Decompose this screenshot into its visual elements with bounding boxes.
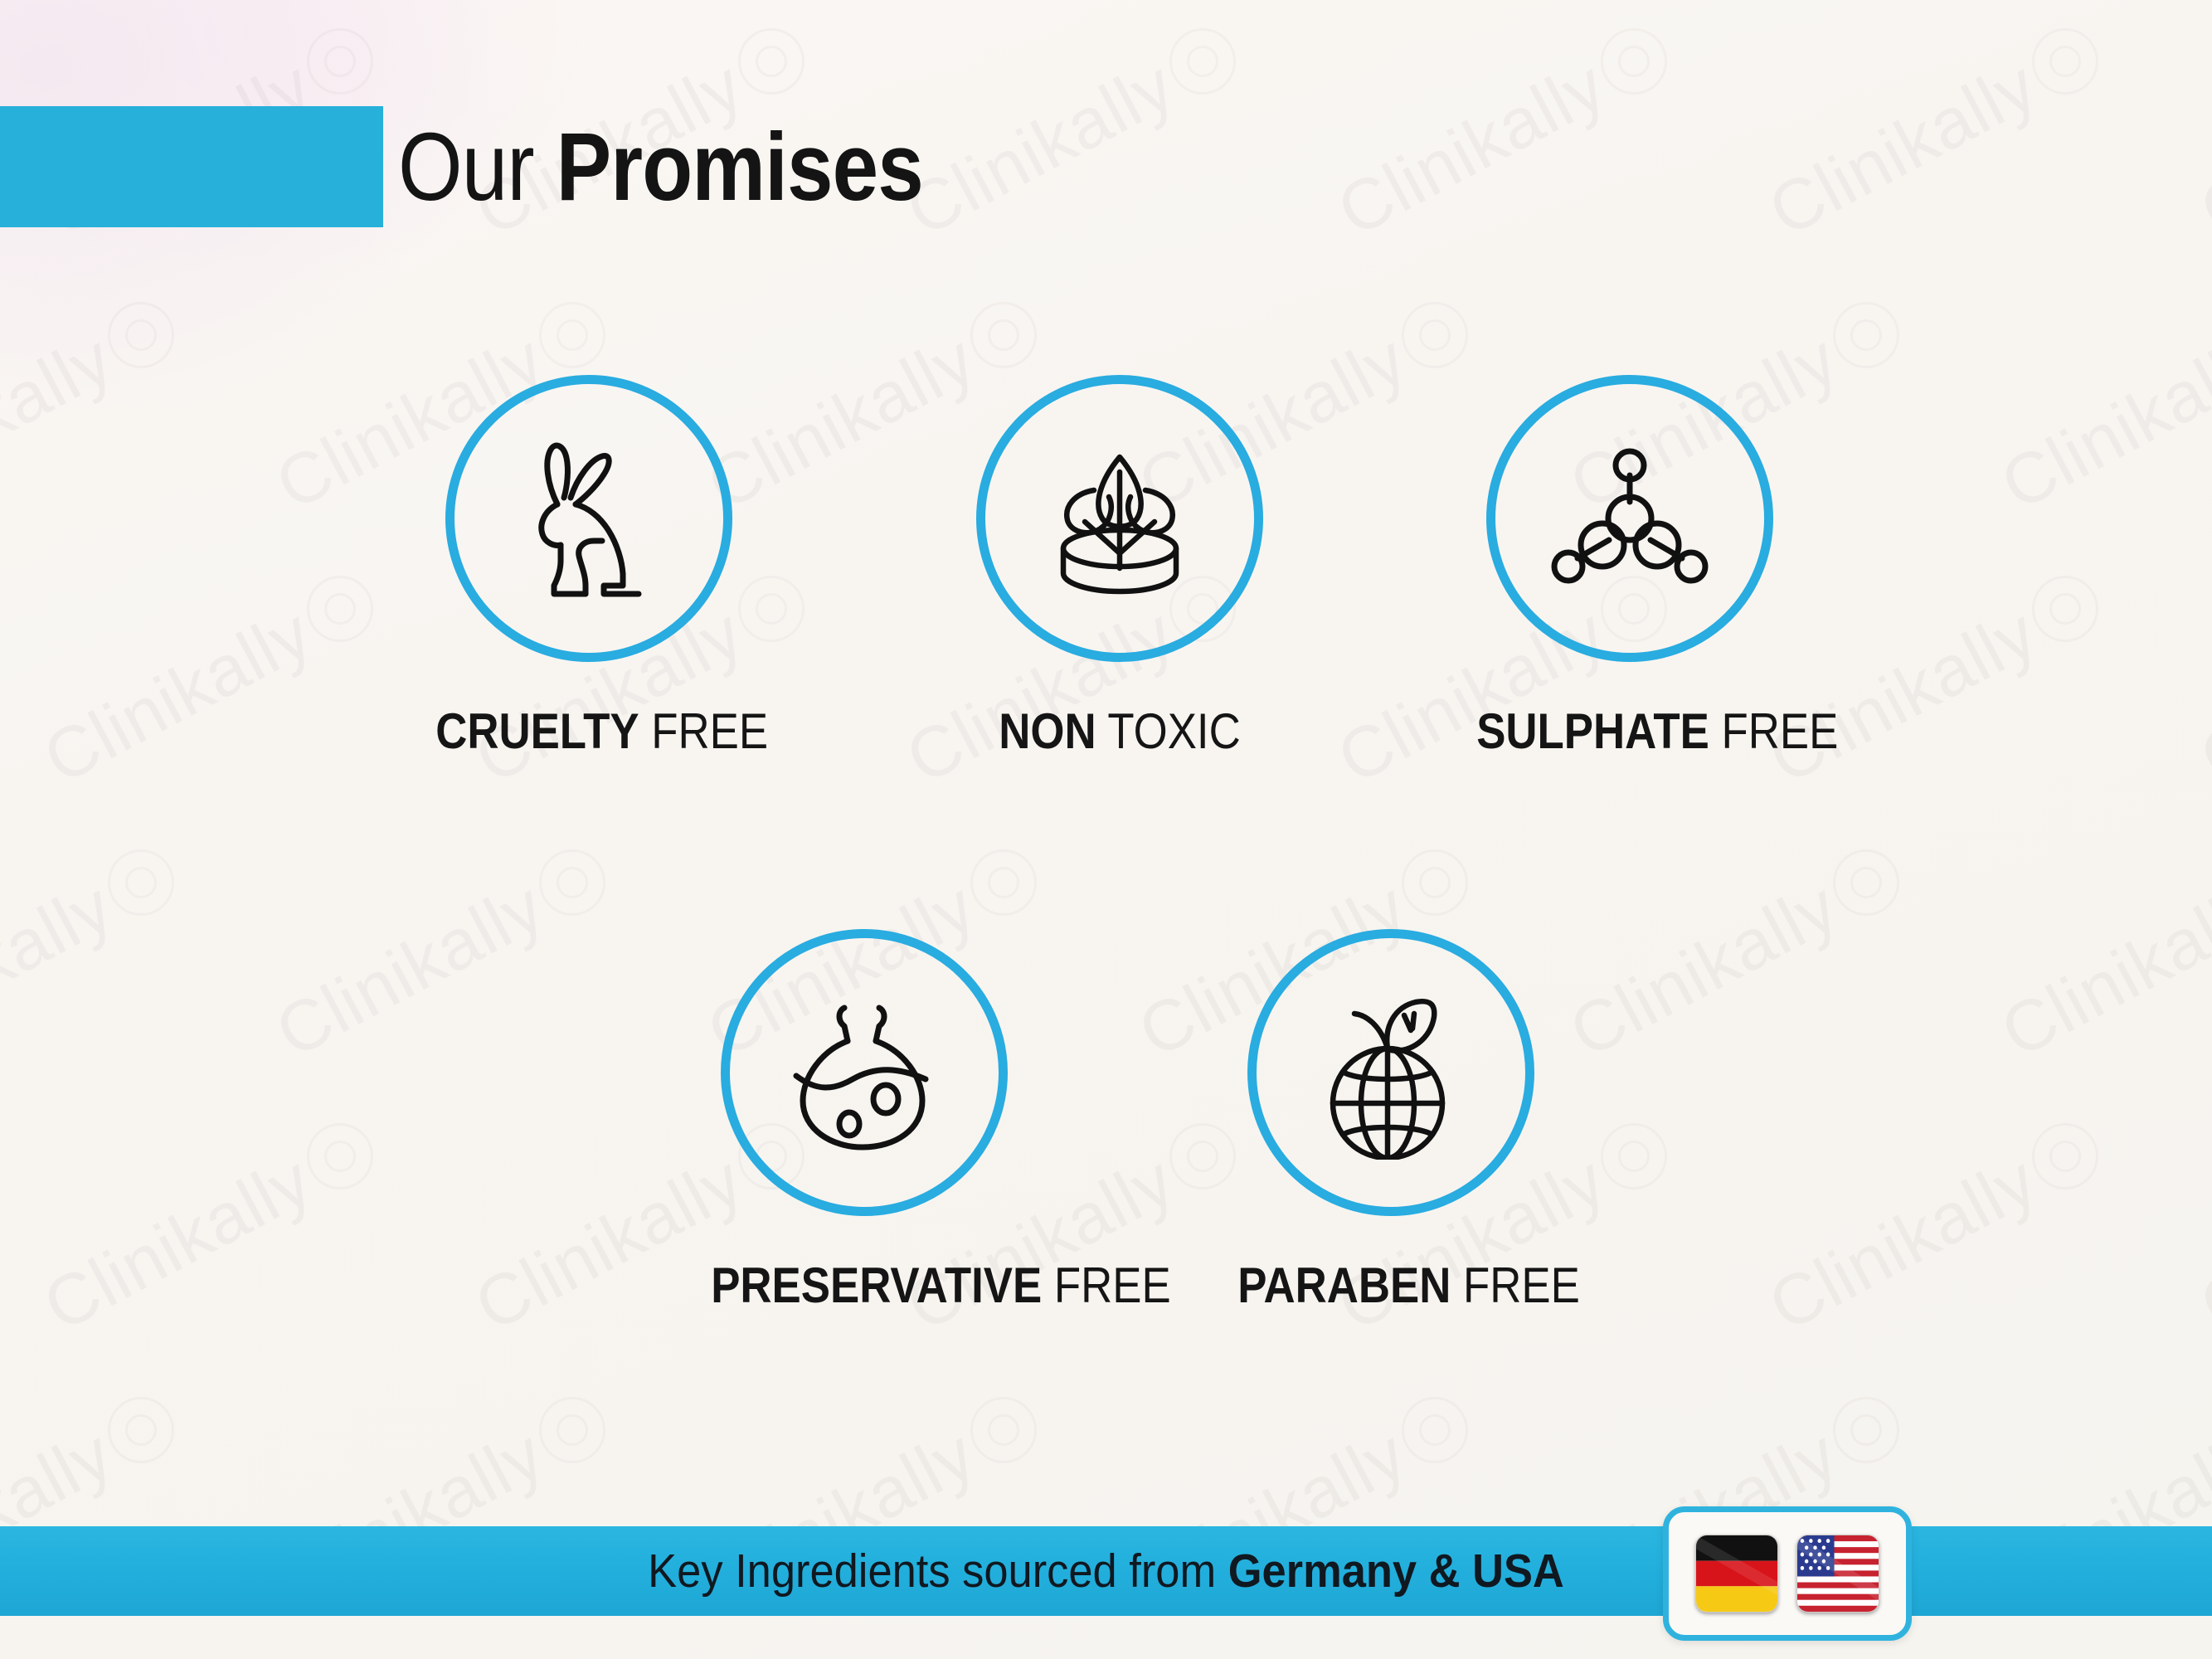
promise-label-regular: FREE — [1451, 1258, 1579, 1313]
promise-label-regular: FREE — [639, 703, 768, 759]
flags-badge-box — [1663, 1506, 1912, 1641]
promise-item-paraben-free[interactable]: PARABEN FREE — [1217, 929, 1565, 1312]
background-wash — [0, 0, 2212, 1659]
promise-label-bold: PARABEN — [1237, 1258, 1451, 1313]
promise-label-regular: TOXIC — [1096, 703, 1241, 759]
page-title-bold: Promises — [557, 113, 923, 221]
promise-item-non-toxic[interactable]: NON TOXIC — [946, 375, 1294, 758]
globe-apple-icon — [1308, 985, 1474, 1160]
promise-label: PARABEN FREE — [1237, 1259, 1544, 1312]
icon-ring — [721, 929, 1008, 1216]
promises-slide: ClinikallyClinikallyClinikallyClinikally… — [0, 0, 2212, 1659]
icon-ring — [445, 375, 732, 662]
promise-label-regular: FREE — [1042, 1258, 1170, 1313]
usa-flag — [1796, 1535, 1879, 1613]
promise-label: PRESERVATIVE FREE — [711, 1259, 1018, 1312]
promise-item-sulphate-free[interactable]: SULPHATE FREE — [1456, 375, 1804, 758]
promise-label-bold: PRESERVATIVE — [711, 1258, 1042, 1313]
plant-pot-icon — [1033, 435, 1207, 601]
page-title-regular: Our — [398, 113, 557, 221]
promise-label-regular: FREE — [1709, 703, 1838, 759]
promise-label: NON TOXIC — [966, 705, 1273, 758]
page-title: Our Promises — [398, 105, 923, 229]
icon-ring — [976, 375, 1263, 662]
germany-flag — [1695, 1535, 1778, 1613]
rabbit-icon — [506, 431, 672, 606]
flask-icon — [780, 988, 950, 1158]
promise-item-cruelty-free[interactable]: CRUELTY FREE — [415, 375, 763, 758]
promise-label: SULPHATE FREE — [1476, 705, 1783, 758]
footer-text-regular: Key Ingredients sourced from — [648, 1545, 1228, 1598]
promise-label-bold: CRUELTY — [435, 703, 639, 759]
icon-ring — [1247, 929, 1534, 1216]
promise-item-preservative-free[interactable]: PRESERVATIVE FREE — [690, 929, 1038, 1312]
promise-label: CRUELTY FREE — [435, 705, 742, 758]
title-accent-bar — [0, 106, 383, 227]
molecule-icon — [1541, 442, 1719, 596]
icon-ring — [1486, 375, 1773, 662]
footer-text-bold: Germany & USA — [1228, 1545, 1564, 1598]
promise-label-bold: SULPHATE — [1476, 703, 1709, 759]
promise-label-bold: NON — [999, 703, 1096, 759]
